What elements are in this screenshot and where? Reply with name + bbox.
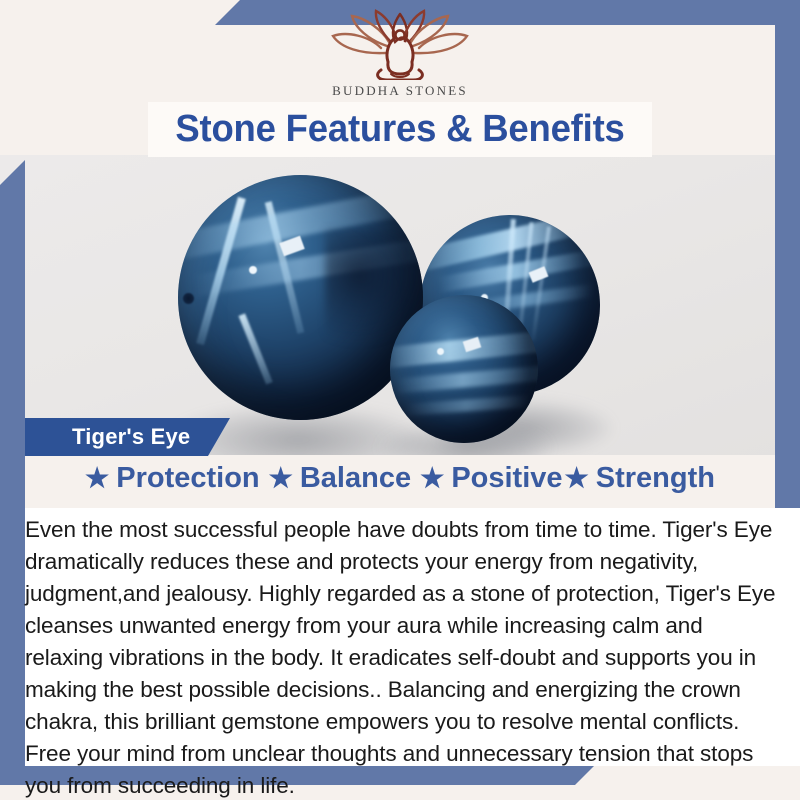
star-icon: ★ bbox=[85, 465, 109, 492]
gem-name-banner: Tiger's Eye bbox=[25, 418, 230, 456]
brand-name: BUDDHA STONES bbox=[332, 83, 468, 99]
benefit-item-protection: ★ Protection bbox=[85, 462, 269, 495]
star-icon: ★ bbox=[565, 465, 589, 492]
gem-name-label: Tiger's Eye bbox=[25, 424, 190, 450]
description-body: Even the most successful people have dou… bbox=[25, 514, 776, 800]
stone-hero-image bbox=[0, 155, 800, 455]
page-title-banner: Stone Features & Benefits bbox=[148, 102, 652, 157]
benefit-item-positive: ★ Positive bbox=[420, 462, 564, 495]
benefit-label: Protection bbox=[116, 462, 259, 495]
stone-sphere-small bbox=[390, 295, 538, 443]
page-title: Stone Features & Benefits bbox=[175, 108, 624, 151]
benefit-label: Balance bbox=[300, 462, 411, 495]
description-card: Even the most successful people have dou… bbox=[25, 508, 800, 766]
benefits-row: ★ Protection ★ Balance ★ Positive ★ Stre… bbox=[0, 462, 800, 495]
stone-sphere-large bbox=[178, 175, 423, 420]
brand-logo: BUDDHA STONES bbox=[325, 8, 475, 99]
benefit-label: Strength bbox=[596, 462, 715, 495]
benefit-item-balance: ★ Balance bbox=[269, 462, 420, 495]
star-icon: ★ bbox=[420, 465, 444, 492]
benefit-item-strength: ★ Strength bbox=[565, 462, 715, 495]
infographic-page: BUDDHA STONES bbox=[0, 0, 800, 800]
lotus-meditation-logo-icon bbox=[325, 8, 475, 80]
brand-header: BUDDHA STONES bbox=[0, 0, 800, 105]
star-icon: ★ bbox=[269, 465, 293, 492]
benefit-label: Positive bbox=[451, 462, 562, 495]
